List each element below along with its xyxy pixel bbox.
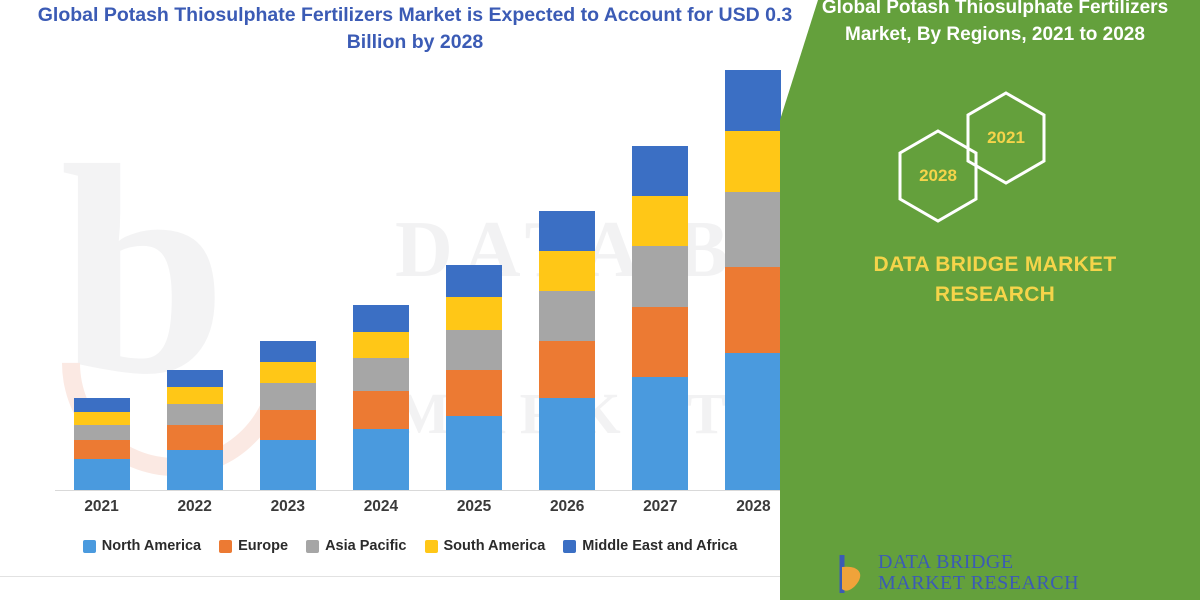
bar-segment (725, 353, 781, 490)
footer-logo-line2: MARKET RESEARCH (878, 573, 1079, 594)
legend-item: Asia Pacific (306, 538, 406, 554)
bar-group (725, 70, 781, 490)
bar-segment (260, 341, 316, 362)
bar-segment (167, 387, 223, 404)
legend-swatch (219, 540, 232, 553)
bar-segment (353, 391, 409, 429)
bar-segment (353, 332, 409, 359)
bar-segment (260, 383, 316, 410)
stacked-bar-chart (0, 70, 820, 490)
legend-item: Europe (219, 538, 288, 554)
x-axis-label: 2025 (429, 498, 519, 516)
green-panel-inner: Global Potash Thiosulphate Fertilizers M… (780, 0, 1200, 600)
bar-segment (74, 412, 130, 425)
footer-divider (0, 576, 820, 577)
bar-group (632, 146, 688, 490)
bar-group (167, 370, 223, 490)
legend-item: Middle East and Africa (563, 538, 737, 554)
bar-group (353, 305, 409, 490)
x-axis-label: 2024 (336, 498, 426, 516)
data-bridge-logo-icon (836, 553, 870, 593)
green-panel: Global Potash Thiosulphate Fertilizers M… (780, 0, 1200, 600)
green-panel-brand-line2: RESEARCH (935, 283, 1055, 306)
bar-segment (725, 70, 781, 131)
bar-segment (632, 377, 688, 490)
bar-segment (725, 267, 781, 353)
legend-item: North America (83, 538, 201, 554)
bar-segment (539, 341, 595, 398)
bar-segment (167, 404, 223, 425)
bar-group (446, 265, 502, 490)
footer-logo-text: DATA BRIDGE MARKET RESEARCH (878, 552, 1079, 594)
infographic-page: b DATA BRIDGE MARKET RESEARCH Global Pot… (0, 0, 1200, 600)
bar-segment (167, 450, 223, 490)
chart-plot-area (55, 70, 800, 490)
bar-segment (260, 362, 316, 383)
bar-segment (632, 196, 688, 246)
x-axis-label: 2021 (57, 498, 147, 516)
bar-segment (725, 131, 781, 192)
x-axis-label: 2022 (150, 498, 240, 516)
legend-label: Middle East and Africa (582, 538, 737, 554)
legend-label: Asia Pacific (325, 538, 406, 554)
bar-segment (539, 251, 595, 291)
bar-segment (632, 307, 688, 378)
legend-swatch (306, 540, 319, 553)
bar-segment (725, 192, 781, 266)
bar-segment (446, 265, 502, 297)
green-panel-title: Global Potash Thiosulphate Fertilizers M… (820, 0, 1170, 48)
bar-segment (353, 305, 409, 332)
bar-segment (167, 425, 223, 450)
bar-group (260, 341, 316, 490)
legend-swatch (563, 540, 576, 553)
legend-label: North America (102, 538, 201, 554)
bar-segment (632, 146, 688, 196)
bar-segment (539, 398, 595, 490)
bar-segment (74, 459, 130, 490)
legend-label: South America (444, 538, 546, 554)
x-axis-tick-labels: 20212022202320242025202620272028 (55, 498, 800, 526)
footer-logo: DATA BRIDGE MARKET RESEARCH (836, 552, 1079, 594)
hexagon-2021-label: 2021 (963, 128, 1049, 148)
footer-logo-line1: DATA BRIDGE (878, 552, 1079, 573)
hexagon-2021: 2021 (963, 90, 1049, 186)
bar-segment (260, 440, 316, 490)
x-axis-label: 2026 (522, 498, 612, 516)
x-axis-label: 2027 (615, 498, 705, 516)
bar-group (74, 398, 130, 490)
chart-legend: North AmericaEuropeAsia PacificSouth Ame… (0, 538, 820, 554)
page-title: Global Potash Thiosulphate Fertilizers M… (20, 2, 810, 56)
bar-group (539, 211, 595, 490)
bar-segment (74, 398, 130, 411)
bar-segment (74, 440, 130, 459)
bar-segment (260, 410, 316, 441)
x-axis-label: 2023 (243, 498, 333, 516)
bar-segment (539, 211, 595, 251)
legend-swatch (83, 540, 96, 553)
bar-segment (446, 416, 502, 490)
legend-item: South America (425, 538, 546, 554)
bar-segment (353, 358, 409, 390)
legend-swatch (425, 540, 438, 553)
bar-segment (446, 330, 502, 370)
bar-segment (167, 370, 223, 387)
bar-segment (539, 291, 595, 341)
green-panel-brand-line1: DATA BRIDGE MARKET (874, 253, 1117, 276)
green-panel-brand: DATA BRIDGE MARKET RESEARCH (820, 250, 1170, 310)
x-axis-line (55, 490, 800, 491)
legend-label: Europe (238, 538, 288, 554)
bar-segment (446, 370, 502, 416)
bar-segment (632, 246, 688, 307)
bar-segment (446, 297, 502, 329)
bar-segment (353, 429, 409, 490)
bar-segment (74, 425, 130, 440)
